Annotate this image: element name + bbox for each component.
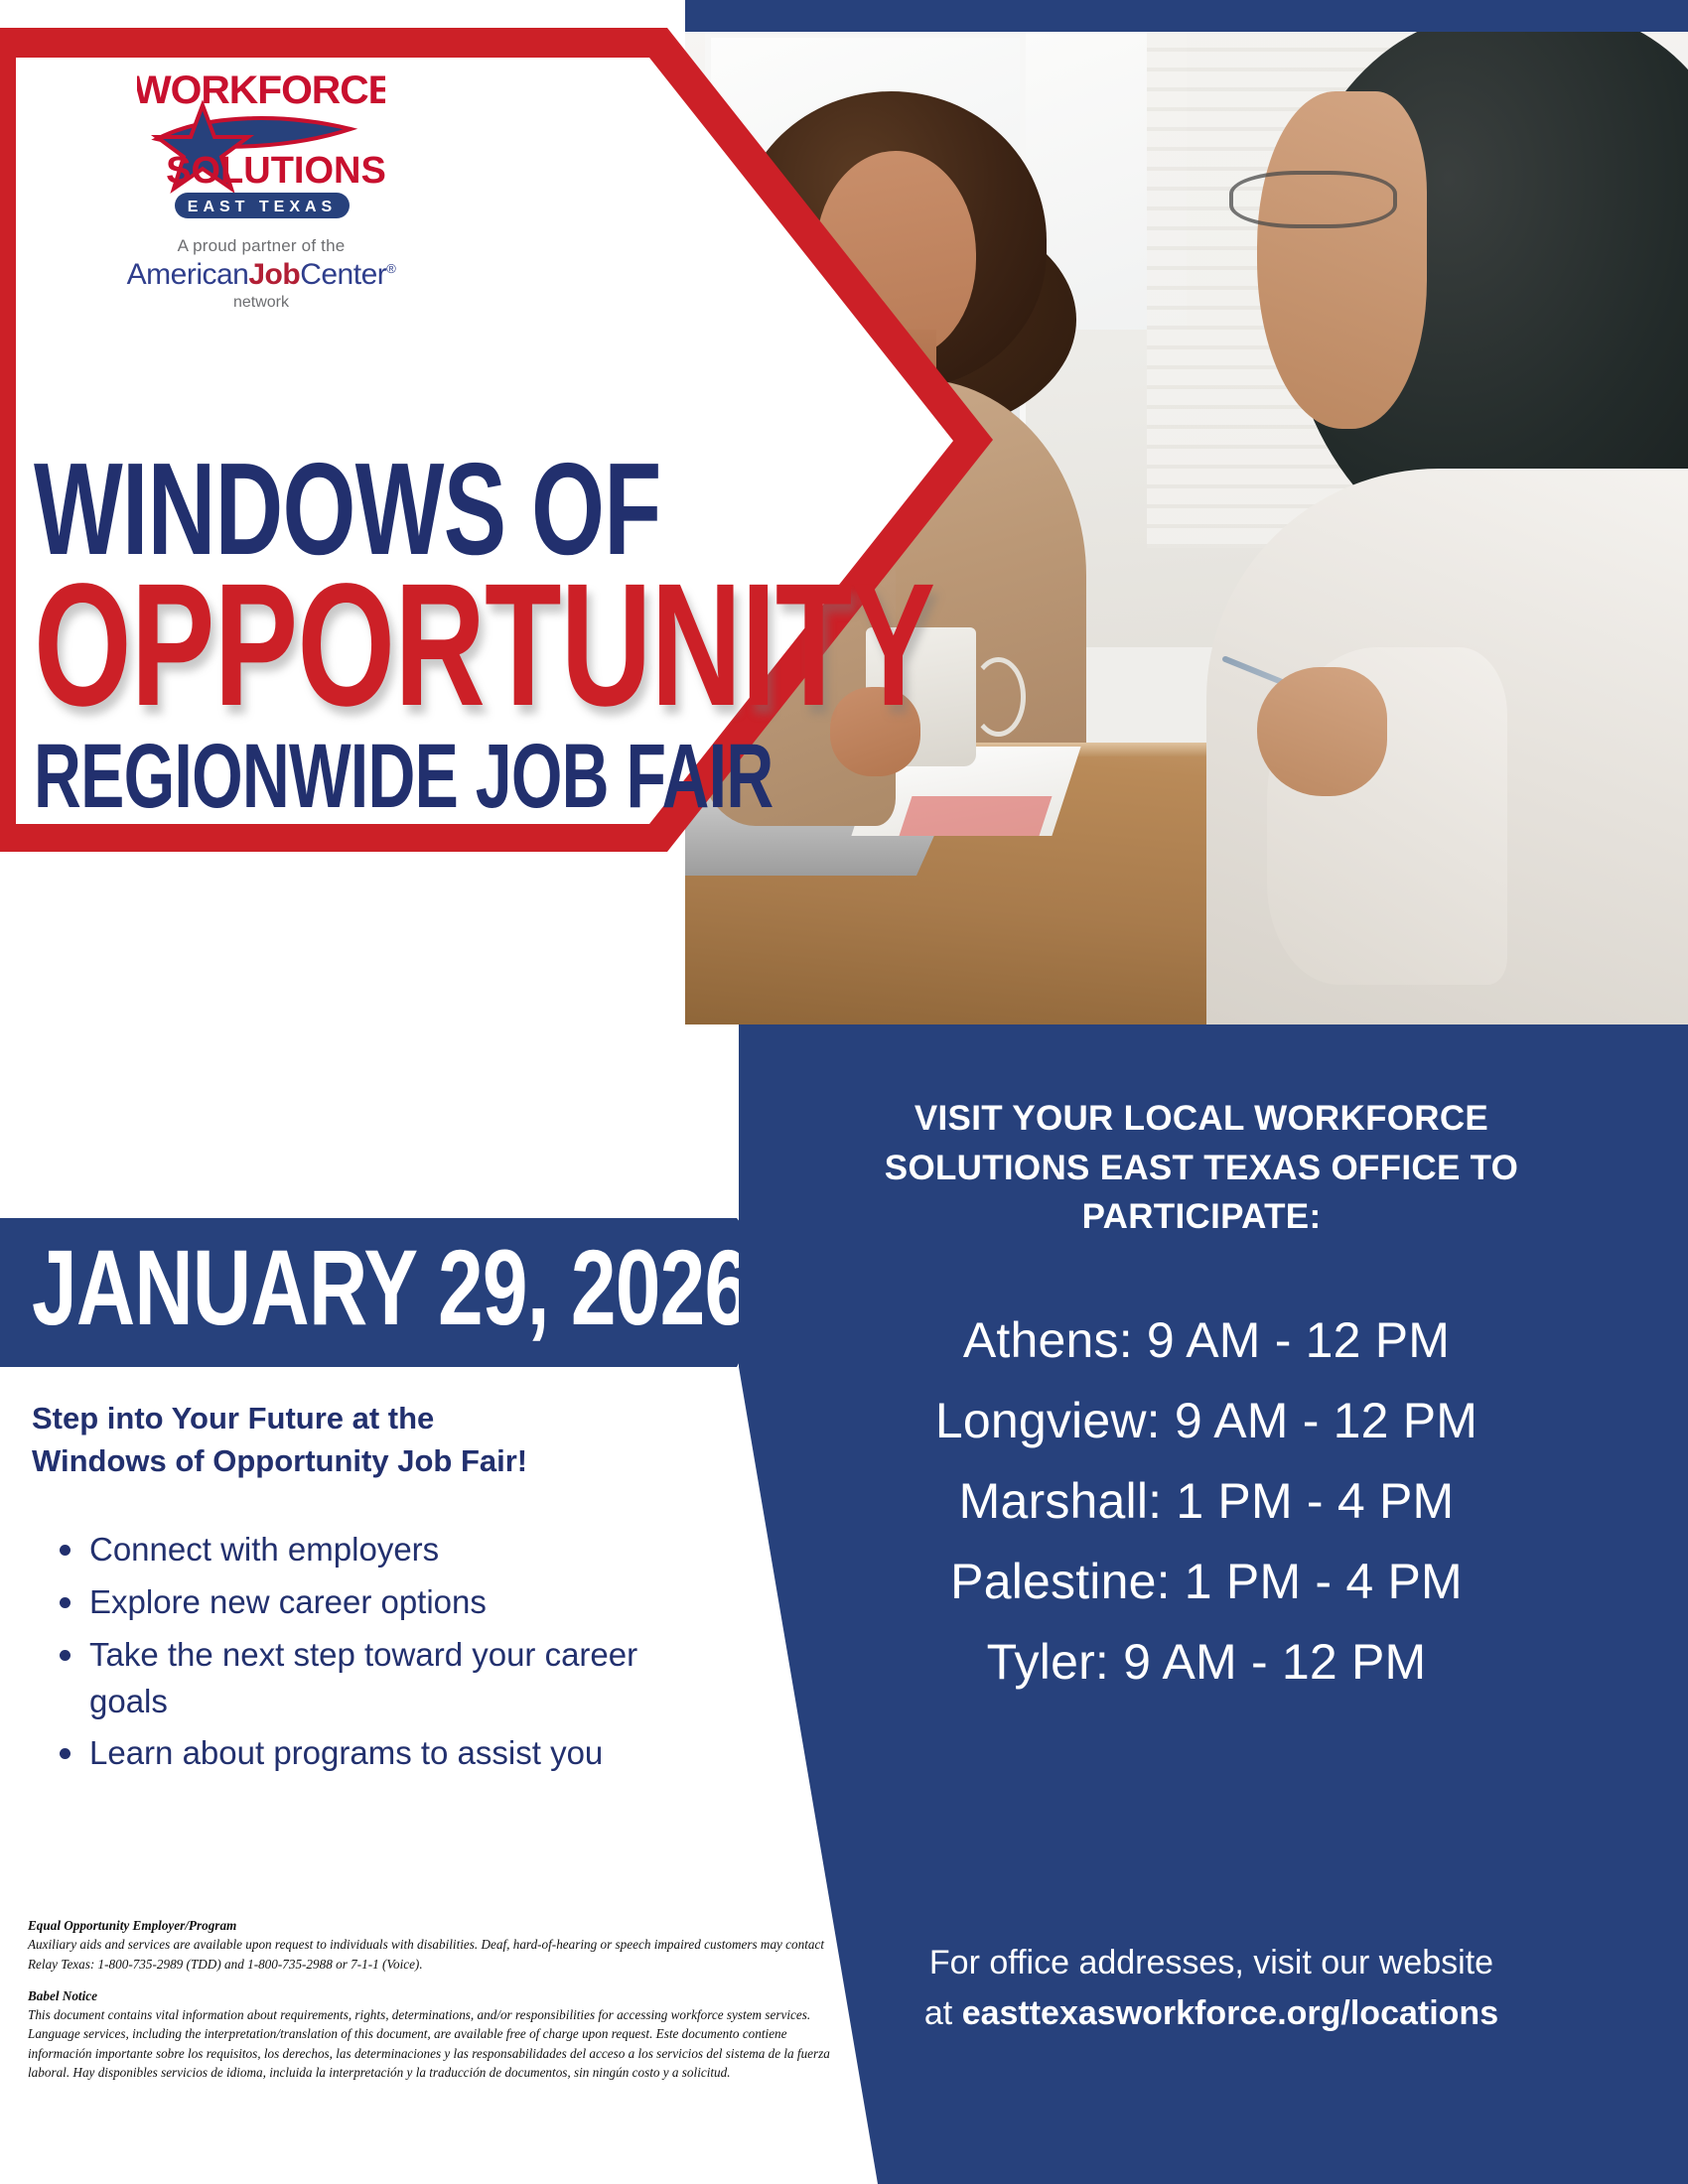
flyer-page: WORKFORCE SOLUTIONS EAST TEXAS A proud p… [0,0,1688,2184]
location-row-palestine: Palestine: 1 PM - 4 PM [814,1542,1599,1622]
bottom-navy-edge [878,2172,1688,2184]
photo-mug-handle [971,657,1026,737]
ajc-job: Job [248,258,300,291]
svg-text:WORKFORCE: WORKFORCE [137,67,385,112]
legal-notices: Equal Opportunity Employer/Program Auxil… [28,1916,842,2082]
page-title: WINDOWS OF OPPORTUNITY REGIONWIDE JOB FA… [34,452,669,817]
photo-paper-accent [900,796,1053,836]
list-item: Take the next step toward your career go… [89,1632,725,1725]
eo-body: Auxiliary aids and services are availabl… [28,1935,842,1974]
locations-list: Athens: 9 AM - 12 PM Longview: 9 AM - 12… [814,1300,1599,1703]
svg-text:SOLUTIONS: SOLUTIONS [166,150,385,192]
ajc-american: American [127,258,249,291]
website-prefix: at [924,1994,962,2032]
ajc-network-label: network [117,294,405,312]
participate-heading: VISIT YOUR LOCAL WORKFORCE SOLUTIONS EAS… [854,1094,1549,1242]
photo-person-right-hand [1257,667,1387,796]
logo-svg: WORKFORCE SOLUTIONS EAST TEXAS [137,62,385,250]
list-item: Connect with employers [89,1527,725,1573]
workforce-solutions-logo: WORKFORCE SOLUTIONS EAST TEXAS [137,62,385,250]
list-item: Explore new career options [89,1579,725,1626]
legal-spacer [28,1974,842,1986]
website-url[interactable]: easttexasworkforce.org/locations [962,1994,1498,2032]
photo-person-right-glasses [1229,171,1398,228]
american-job-center-logo: AmericanJobCenter® network [117,260,405,312]
partner-text: A proud partner of the [137,236,385,256]
website-callout-line1: For office addresses, visit our website [854,1938,1569,1988]
subheading-line2: Windows of Opportunity Job Fair! [32,1440,647,1483]
location-row-longview: Longview: 9 AM - 12 PM [814,1381,1599,1461]
location-row-tyler: Tyler: 9 AM - 12 PM [814,1622,1599,1703]
subheading-line1: Step into Your Future at the [32,1398,647,1440]
benefits-list: Connect with employers Explore new caree… [46,1527,725,1783]
title-line-regionwide-job-fair: REGIONWIDE JOB FAIR [34,737,492,817]
babel-heading: Babel Notice [28,1986,842,2005]
photo-person-right-face [1257,91,1428,429]
location-row-athens: Athens: 9 AM - 12 PM [814,1300,1599,1381]
svg-text:EAST TEXAS: EAST TEXAS [188,199,337,215]
list-item: Learn about programs to assist you [89,1730,725,1777]
event-date: JANUARY 29, 2026 [32,1234,749,1341]
eo-heading: Equal Opportunity Employer/Program [28,1916,842,1935]
babel-body: This document contains vital information… [28,2005,842,2082]
website-callout: For office addresses, visit our website … [854,1938,1569,2039]
website-callout-line2: at easttexasworkforce.org/locations [854,1988,1569,2039]
ajc-wordmark: AmericanJobCenter® [117,260,405,290]
red-left-strip [0,28,16,852]
title-line-opportunity: OPPORTUNITY [34,569,492,723]
ajc-center: Center [300,258,386,291]
location-row-marshall: Marshall: 1 PM - 4 PM [814,1461,1599,1542]
subheading: Step into Your Future at the Windows of … [32,1398,647,1483]
ajc-registered-mark: ® [386,261,395,276]
